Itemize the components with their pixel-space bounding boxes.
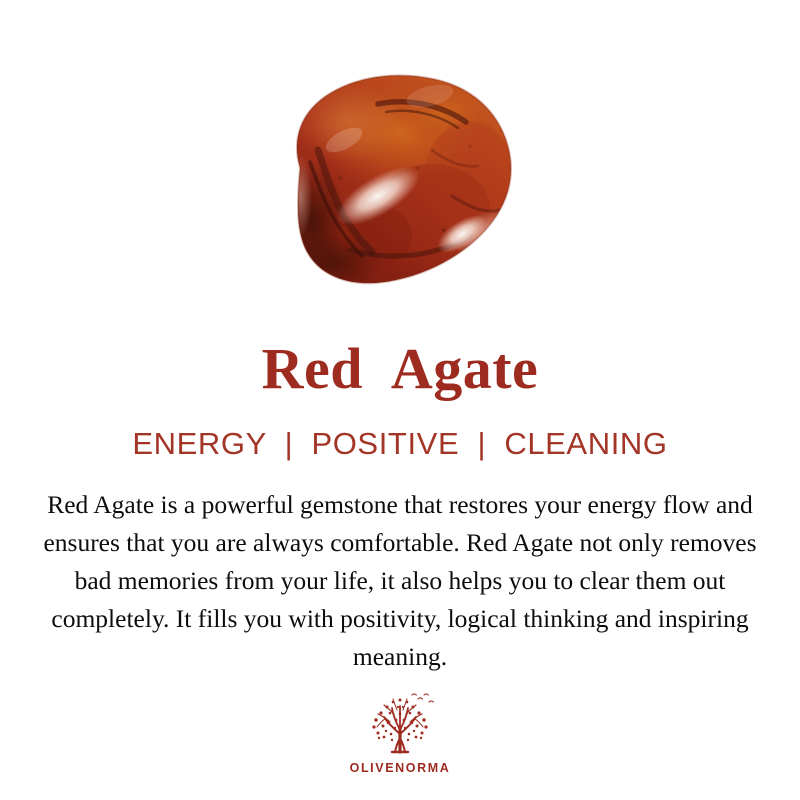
birds-icon [412, 694, 433, 702]
red-agate-stone-illustration [0, 0, 800, 310]
tree-of-life-icon [362, 690, 438, 760]
brand-logo: OLIVENORMA [350, 690, 451, 775]
brand-name: OLIVENORMA [350, 761, 451, 775]
page-title: Red Agate [262, 340, 539, 398]
stone-shape [278, 74, 531, 290]
keyword-separator: | [468, 426, 495, 462]
keyword-list: ENERGY | POSITIVE | CLEANING [132, 426, 667, 462]
keyword-energy: ENERGY [132, 426, 266, 461]
gemstone-image [0, 0, 800, 310]
keyword-positive: POSITIVE [311, 426, 459, 461]
keyword-cleaning: CLEANING [504, 426, 667, 461]
product-card: Red Agate ENERGY | POSITIVE | CLEANING R… [0, 0, 800, 800]
keyword-separator: | [276, 426, 303, 462]
product-description: Red Agate is a powerful gemstone that re… [22, 486, 778, 676]
